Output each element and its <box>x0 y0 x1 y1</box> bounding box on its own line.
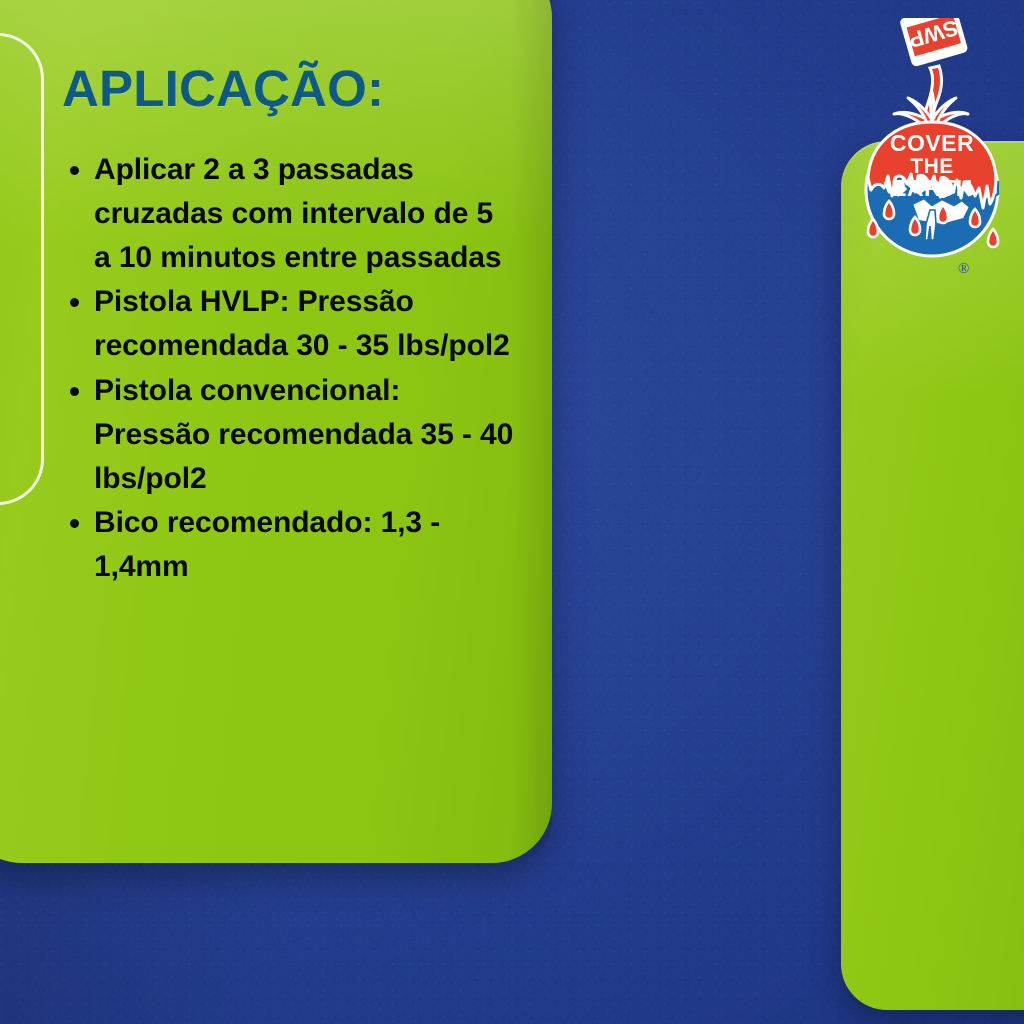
list-item: Aplicar 2 a 3 passadas cruzadas com inte… <box>62 148 514 280</box>
bullet-list: Aplicar 2 a 3 passadas cruzadas com inte… <box>62 148 514 589</box>
content-block: APLICAÇÃO: Aplicar 2 a 3 passadas cruzad… <box>62 62 514 589</box>
page-title: APLICAÇÃO: <box>62 62 514 116</box>
sherwin-williams-logo: SWP <box>846 18 1018 296</box>
list-item: Pistola HVLP: Pressão recomendada 30 - 3… <box>62 280 514 368</box>
registered-trademark-symbol: ® <box>958 262 969 277</box>
svg-text:COVER: COVER <box>890 130 974 156</box>
paint-can-icon: SWP <box>899 18 969 67</box>
list-item: Pistola convencional: Pressão recomendad… <box>62 369 514 501</box>
slide-canvas: APLICAÇÃO: Aplicar 2 a 3 passadas cruzad… <box>0 0 1024 1024</box>
svg-text:EARTH: EARTH <box>891 175 973 201</box>
list-item: Bico recomendado: 1,3 - 1,4mm <box>62 501 514 589</box>
